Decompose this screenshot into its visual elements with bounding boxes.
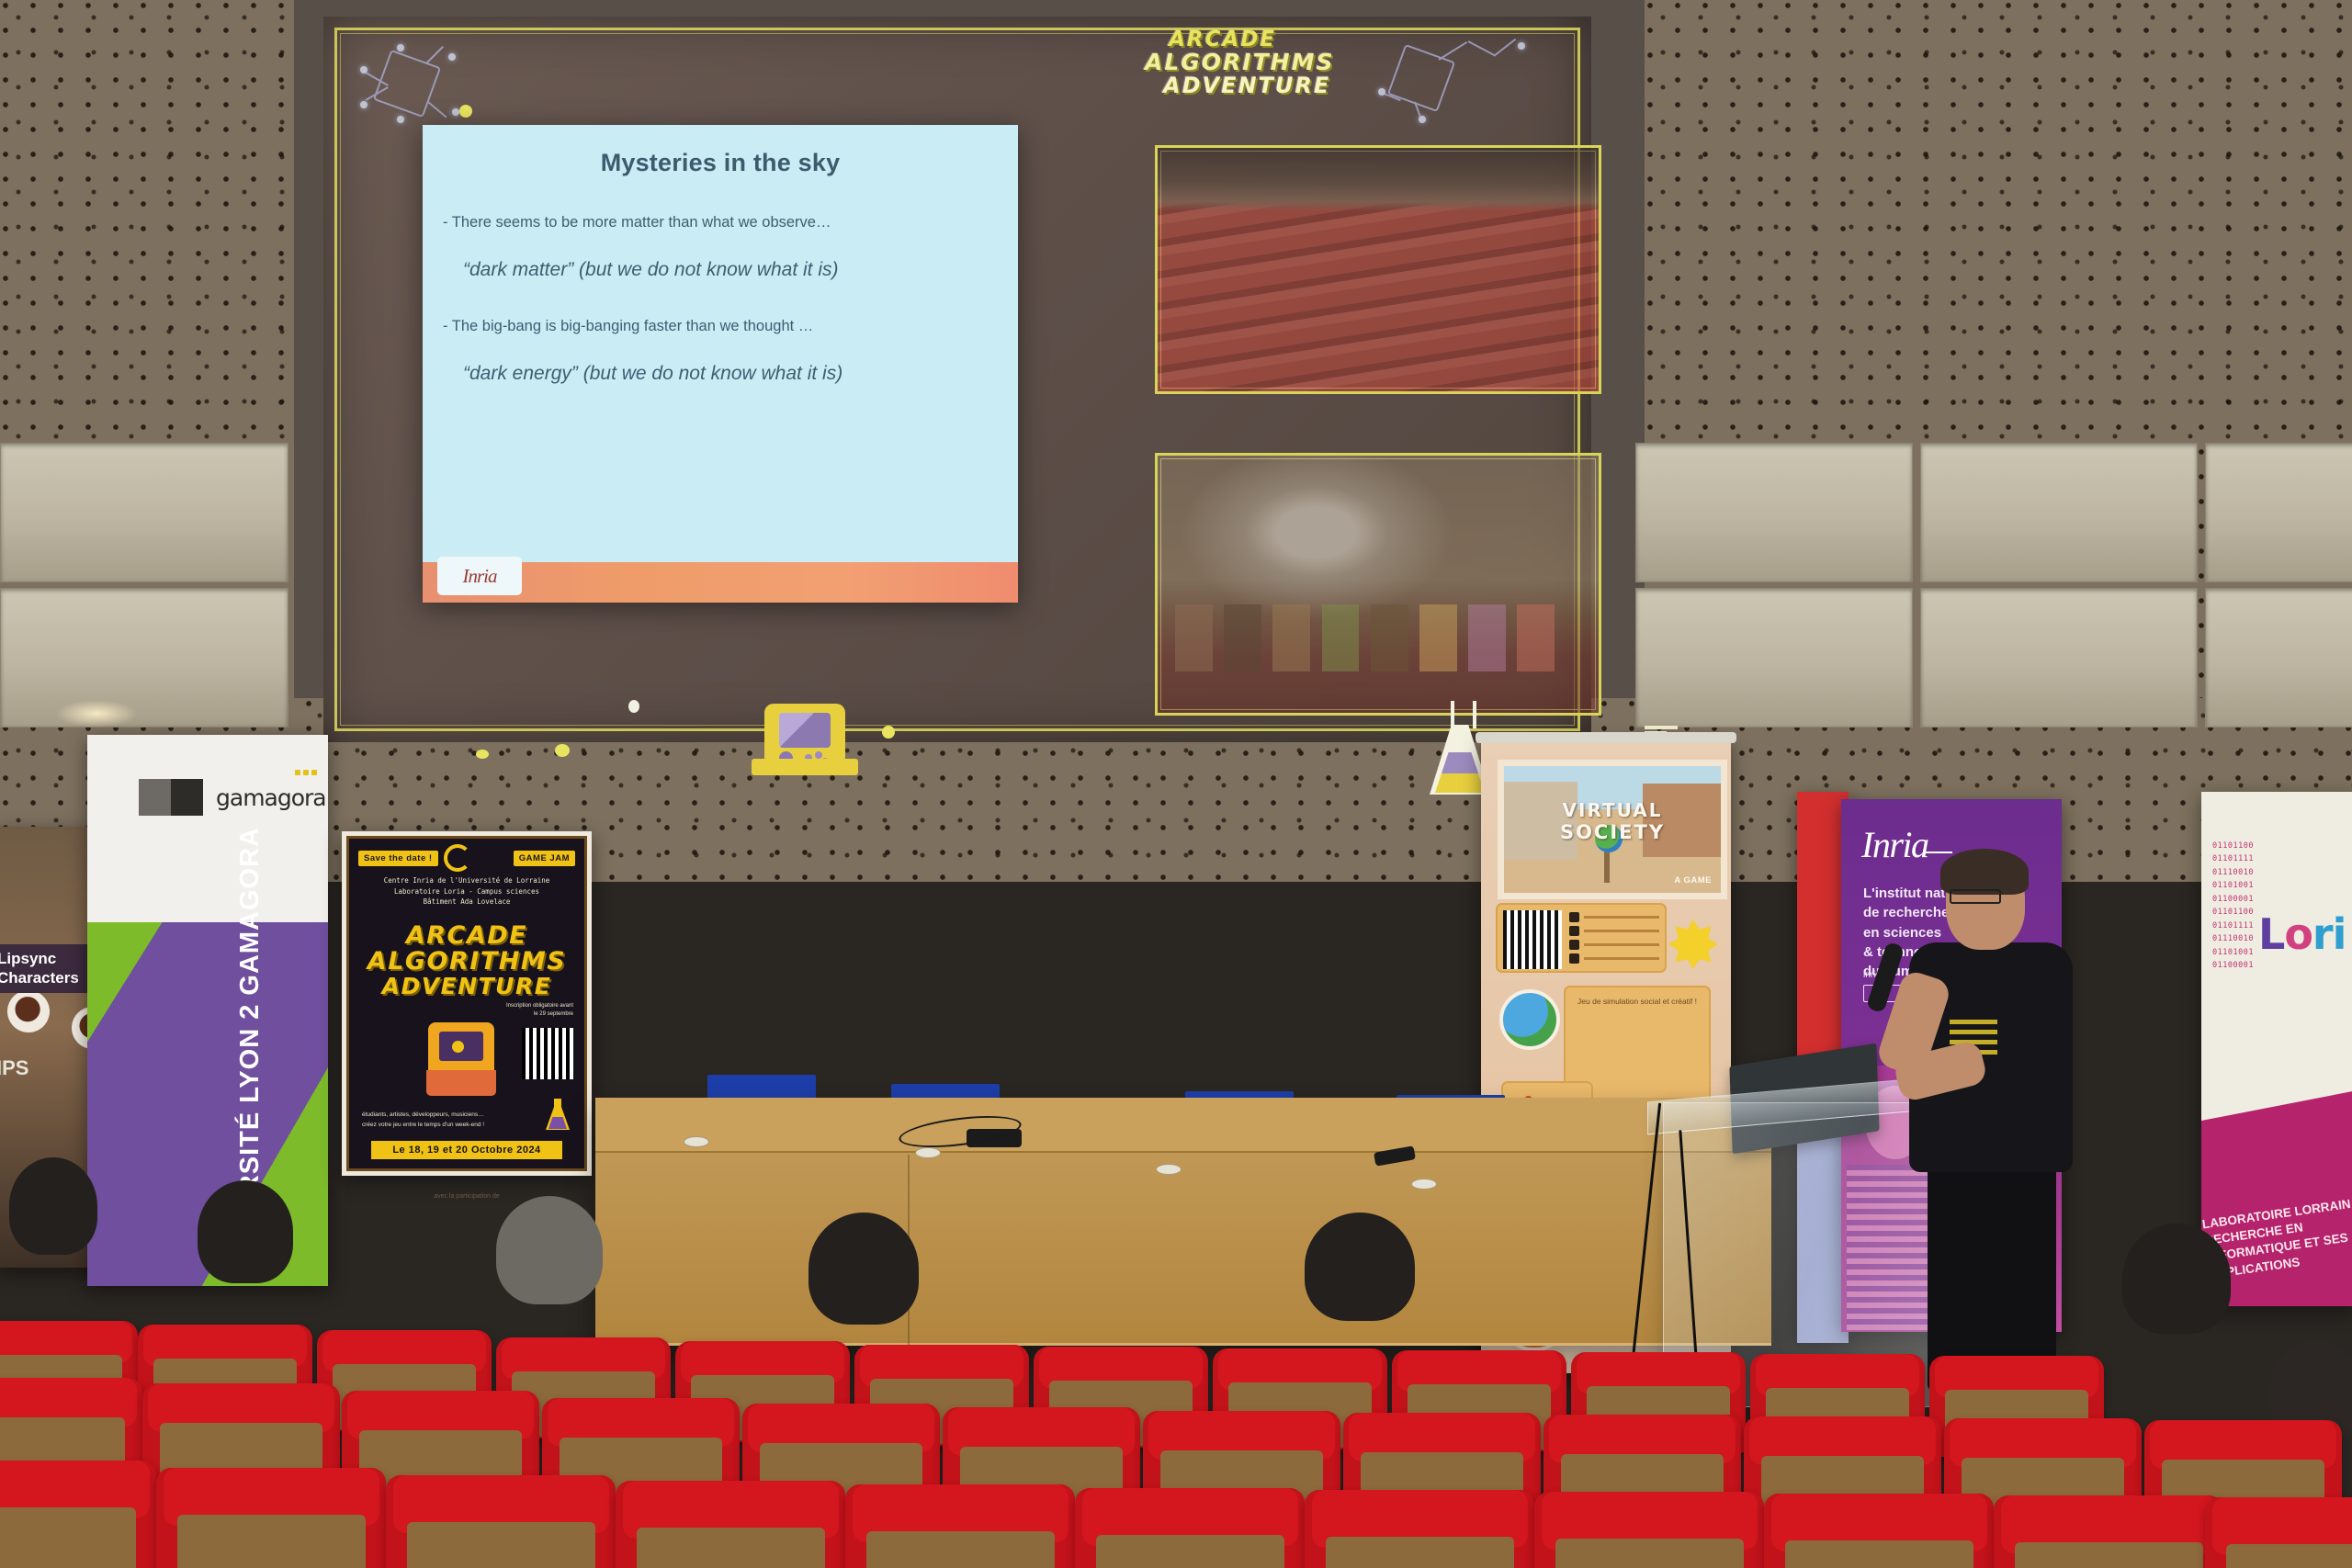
seat[interactable] xyxy=(386,1475,616,1568)
auditorium-scene: ARCADE ALGORITHMS ADVENTURE Mysteries in… xyxy=(0,0,2352,1568)
poster-title: ARCADE ALGORITHMS ADVENTURE xyxy=(349,923,584,998)
gamagora-logo: gamagora xyxy=(139,779,326,816)
poster-arcade-algorithms-adventure: Save the date ! GAME JAM Centre Inria de… xyxy=(342,831,592,1176)
desk-grommet-3 xyxy=(1156,1164,1182,1175)
wall-panel-right-4 xyxy=(1920,588,2198,728)
loria-wordmark: Lori xyxy=(2258,909,2346,959)
seat[interactable] xyxy=(845,1484,1075,1568)
poster-title-3: ADVENTURE xyxy=(349,975,584,998)
poster-title-1: ARCADE xyxy=(349,923,584,949)
seat[interactable] xyxy=(0,1461,156,1568)
decor-dot-yellow-1 xyxy=(459,105,472,118)
molecule-icon-right xyxy=(1382,39,1538,127)
wall-panel-right-6 xyxy=(2205,588,2352,728)
event-title-line-1: ARCADE xyxy=(1169,29,1398,51)
banner-lipsync-sub: IPS xyxy=(0,1056,28,1080)
audience-head-4 xyxy=(808,1213,919,1325)
poster-organiser-3: Bâtiment Ada Lovelace xyxy=(362,897,571,908)
seat[interactable] xyxy=(1075,1488,1305,1568)
virtual-society-artwork: VIRTUAL SOCIETY A GAME xyxy=(1498,760,1727,899)
slide-title: Mysteries in the sky xyxy=(423,149,1018,177)
banner-top-rail xyxy=(1476,732,1736,743)
banner-loria: 01101100 01101111 01110010 01101001 0110… xyxy=(2201,792,2352,1306)
poster-ring-icon xyxy=(444,844,471,872)
poster-date: Le 18, 19 et 20 Octobre 2024 xyxy=(371,1141,562,1159)
loria-binary-art: 01101100 01101111 01110010 01101001 0110… xyxy=(2212,840,2254,972)
poster-blurb: étudiants, artistes, développeurs, music… xyxy=(362,1111,500,1130)
poster-title-2: ALGORITHMS xyxy=(349,949,584,975)
slide-bullet-2: - The big-bang is big-banging faster tha… xyxy=(443,318,1018,335)
audience-head-6 xyxy=(2122,1224,2231,1334)
wall-panel-left-2 xyxy=(0,588,288,728)
poster-organiser: Centre Inria de l'Université de Lorraine… xyxy=(362,875,571,908)
audience-head-3 xyxy=(496,1196,603,1304)
virtual-society-title-1: VIRTUAL xyxy=(1504,799,1721,821)
projection-screen: ARCADE ALGORITHMS ADVENTURE Mysteries in… xyxy=(323,17,1591,742)
virtual-society-contact-card xyxy=(1496,903,1667,973)
seat[interactable] xyxy=(156,1468,386,1568)
decor-dot-yellow-2 xyxy=(476,750,489,759)
slide-emphasis-1: “dark matter” (but we do not know what i… xyxy=(463,259,1018,281)
event-title-line-3: ADVENTURE xyxy=(1163,74,1398,96)
poster-organiser-1: Centre Inria de l'Université de Lorraine xyxy=(362,875,571,886)
gamagora-mark xyxy=(139,779,203,816)
desk-grommet-1 xyxy=(684,1136,709,1147)
globe-sticker-icon xyxy=(1499,989,1560,1050)
event-title-line-2: ALGORITHMS xyxy=(1145,51,1398,74)
poster-arcade-cabinet-icon xyxy=(421,1022,502,1100)
audience-head-5 xyxy=(1305,1213,1415,1321)
inria-logo-text: Inria xyxy=(463,565,497,588)
desk-grommet-4 xyxy=(1411,1179,1437,1190)
slide-footer-bar: Inria xyxy=(423,562,1018,603)
gamagora-dots-icon xyxy=(295,770,317,775)
audience-seating xyxy=(0,1268,2352,1568)
poster-chip-game-jam: GAME JAM xyxy=(514,851,575,866)
slide-photo-lecture-hall xyxy=(1155,453,1601,716)
ceiling-light-glow xyxy=(55,700,138,728)
poster-inscription-note: Inscription obligatoire avant le 29 sept… xyxy=(502,1002,573,1019)
gamagora-wordmark: gamagora xyxy=(216,784,326,811)
audience-head-2 xyxy=(198,1180,293,1283)
slide-emphasis-2: “dark energy” (but we do not know what i… xyxy=(463,363,1018,385)
inria-logo-slide: Inria xyxy=(437,557,522,595)
seat[interactable] xyxy=(616,1481,845,1568)
poster-flask-icon xyxy=(546,1099,570,1130)
seat[interactable] xyxy=(1764,1494,1994,1568)
virtual-society-title-2: SOCIETY xyxy=(1504,821,1721,843)
desk-grommet-2 xyxy=(915,1147,941,1158)
seat[interactable] xyxy=(1994,1495,2223,1568)
wall-panel-left-1 xyxy=(0,443,288,582)
decor-dot-white-1 xyxy=(628,700,639,713)
poster-qr-code xyxy=(522,1028,573,1079)
virtual-society-qr-code xyxy=(1503,910,1562,969)
wall-panel-right-3 xyxy=(1920,443,2198,582)
seat[interactable] xyxy=(2205,1497,2352,1568)
sun-sticker-icon xyxy=(1668,919,1718,969)
event-title-art: ARCADE ALGORITHMS ADVENTURE xyxy=(1132,29,1398,114)
seat[interactable] xyxy=(1305,1490,1534,1568)
slide-photo-auditorium xyxy=(1155,145,1601,394)
arcade-cabinet-icon xyxy=(752,704,862,775)
presentation-slide: Mysteries in the sky - There seems to be… xyxy=(423,125,1018,603)
poster-chip-save-the-date: Save the date ! xyxy=(358,851,438,866)
decor-dot-yellow-3 xyxy=(555,744,570,757)
seat[interactable] xyxy=(1534,1492,1764,1568)
poster-organiser-2: Laboratoire Loria - Campus sciences xyxy=(362,886,571,897)
glasses-icon xyxy=(1950,889,2001,904)
wall-panel-right-2 xyxy=(1635,588,1913,728)
wall-panel-right-1 xyxy=(1635,443,1913,582)
decor-dot-yellow-4 xyxy=(882,726,895,739)
virtual-society-subtitle: A GAME xyxy=(1674,875,1712,886)
audience-head-1 xyxy=(9,1157,97,1255)
wall-panel-right-5 xyxy=(2205,443,2352,582)
slide-bullet-1: - There seems to be more matter than wha… xyxy=(443,214,1018,231)
